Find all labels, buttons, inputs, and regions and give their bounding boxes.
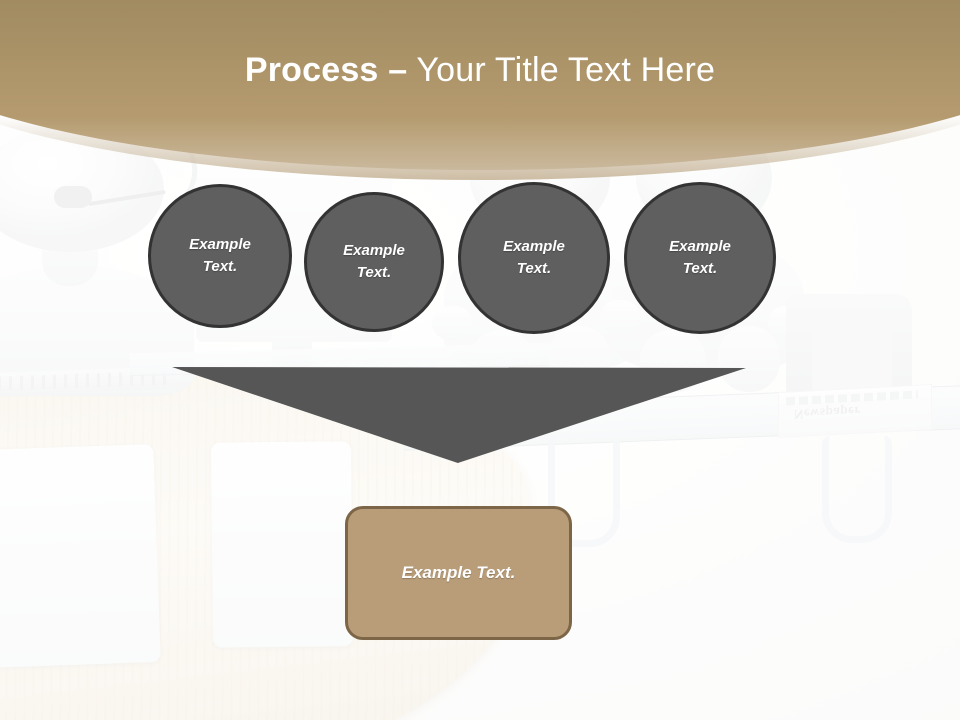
circle-label-line1: Example bbox=[503, 238, 565, 255]
process-circle-4-label: Example Text. bbox=[669, 236, 731, 280]
title-banner bbox=[0, 0, 960, 200]
process-circle-4[interactable]: Example Text. bbox=[624, 182, 776, 334]
process-circle-1[interactable]: Example Text. bbox=[148, 184, 292, 328]
slide-canvas: Newspaper Process – Your Title Text Here… bbox=[0, 0, 960, 720]
circle-label-line1: Example bbox=[189, 236, 251, 253]
circle-label-line2: Text. bbox=[357, 264, 391, 281]
page-title: Process – Your Title Text Here bbox=[0, 48, 960, 92]
process-circle-2-label: Example Text. bbox=[343, 240, 405, 284]
circle-label-line2: Text. bbox=[203, 258, 237, 275]
process-circle-1-label: Example Text. bbox=[189, 234, 251, 278]
circle-label-line2: Text. bbox=[683, 260, 717, 277]
process-circle-3-label: Example Text. bbox=[503, 236, 565, 280]
circle-label-line1: Example bbox=[343, 242, 405, 259]
process-circle-3[interactable]: Example Text. bbox=[458, 182, 610, 334]
result-box-label: Example Text. bbox=[402, 563, 516, 583]
page-title-bold: Process – bbox=[245, 51, 407, 89]
circle-label-line1: Example bbox=[669, 238, 731, 255]
page-title-regular: Your Title Text Here bbox=[407, 51, 715, 89]
process-circle-2[interactable]: Example Text. bbox=[304, 192, 444, 332]
result-box[interactable]: Example Text. bbox=[345, 506, 572, 640]
circle-label-line2: Text. bbox=[517, 260, 551, 277]
